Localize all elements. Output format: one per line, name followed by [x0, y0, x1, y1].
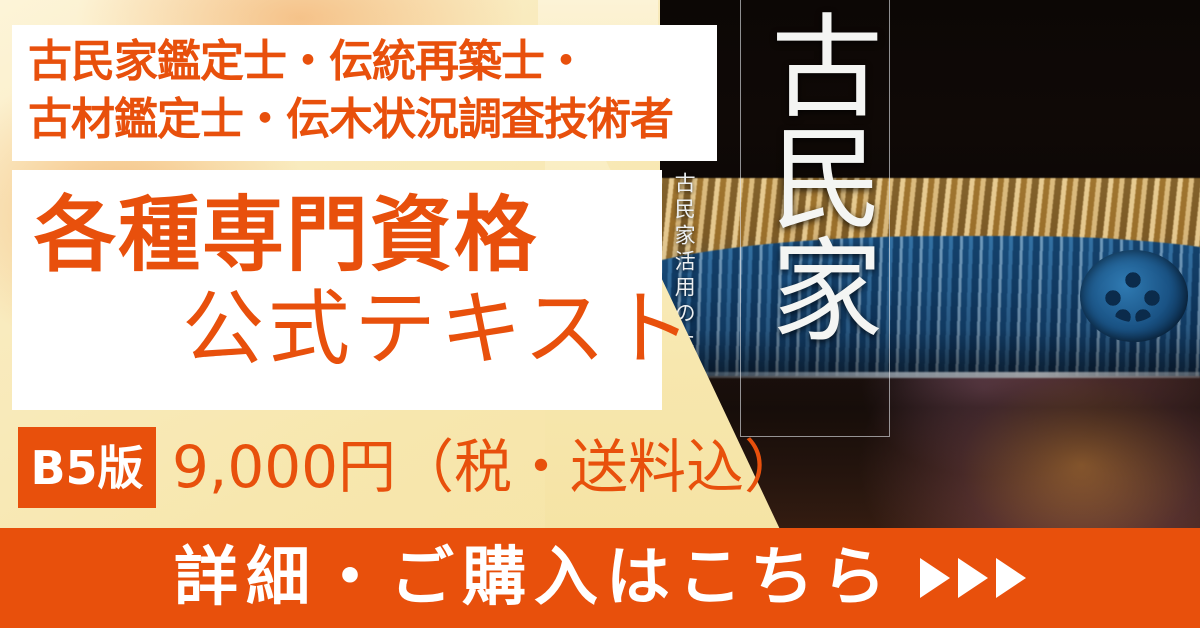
format-badge: B5版 [18, 427, 156, 508]
cta-label: 詳細・ご購入はこちら [174, 546, 894, 610]
headline-panel: 各種専門資格 公式テキスト [12, 170, 662, 410]
headline-line-1: 各種専門資格 [34, 188, 538, 284]
triangle-right-icon [958, 558, 988, 598]
qualifications-heading-line-2: 古材鑑定士・伝木状況調査技術者 [28, 91, 673, 149]
family-crest-tile-icon [1080, 250, 1188, 342]
triangle-right-icon [996, 558, 1026, 598]
headline-line-2: 公式テキスト [182, 282, 696, 378]
qualifications-heading-line-1: 古民家鑑定士・伝統再築士・ [28, 33, 587, 91]
qualifications-heading-panel: 古民家鑑定士・伝統再築士・ 古材鑑定士・伝木状況調査技術者 [12, 25, 717, 161]
triangle-right-icon [920, 558, 950, 598]
cta-arrow-group [920, 558, 1026, 598]
format-badge-label: B5版 [30, 445, 143, 491]
cover-title: 古民家 [744, 8, 884, 344]
promo-banner: 古民家 伝統構法、古民家活用のための調査と再生の 古民家鑑定士・伝統再築士・ 古… [0, 0, 1200, 628]
price-text: 9,000円（税・送料込） [172, 432, 802, 502]
cta-bar[interactable]: 詳細・ご購入はこちら [0, 528, 1200, 628]
